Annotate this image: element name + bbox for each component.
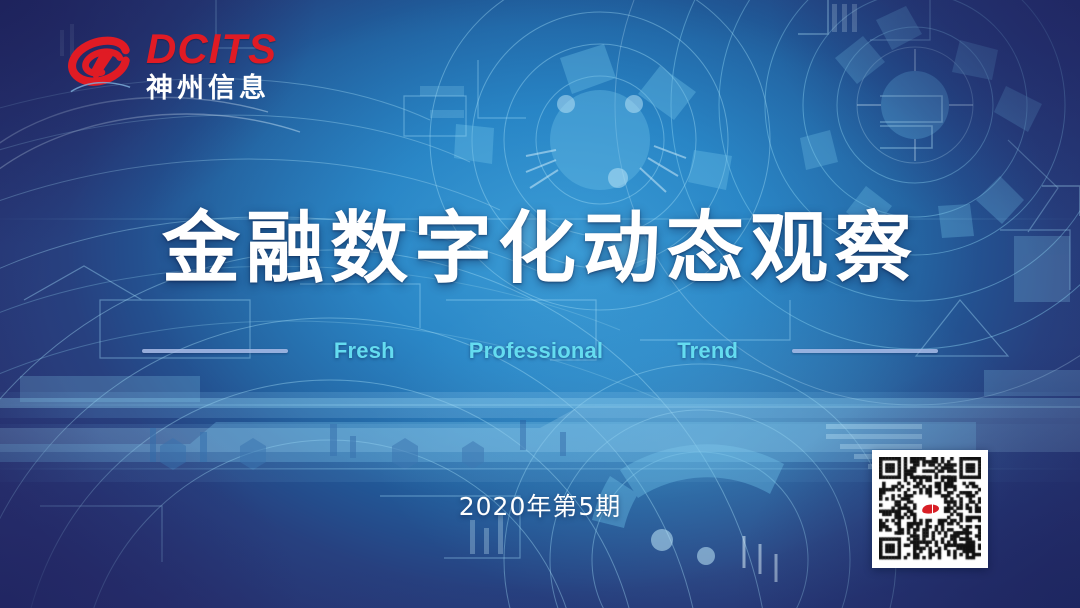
tagline-word-fresh: Fresh (334, 338, 395, 364)
qr-center-logo-icon (918, 501, 942, 518)
dcits-swoosh-mark-icon (62, 28, 136, 102)
tagline-word-trend: Trend (677, 338, 738, 364)
tagline-words: Fresh Professional Trend (334, 338, 738, 364)
brand-wordmark: DCITS 神州信息 (146, 28, 277, 102)
poster-slide: DCITS 神州信息 金融数字化动态观察 Fresh Professional … (0, 0, 1080, 608)
qr-code[interactable] (872, 450, 988, 568)
brand-name-cn: 神州信息 (146, 75, 277, 102)
page-title: 金融数字化动态观察 (0, 186, 1080, 298)
tagline-row: Fresh Professional Trend (0, 338, 1080, 364)
brand-logo: DCITS 神州信息 (62, 28, 277, 102)
tagline-rule-left (142, 349, 288, 353)
tagline-rule-right (792, 349, 938, 353)
brand-name-en: DCITS (146, 28, 277, 70)
circuit-band-upper (0, 392, 1080, 418)
tagline-word-professional: Professional (469, 338, 603, 364)
